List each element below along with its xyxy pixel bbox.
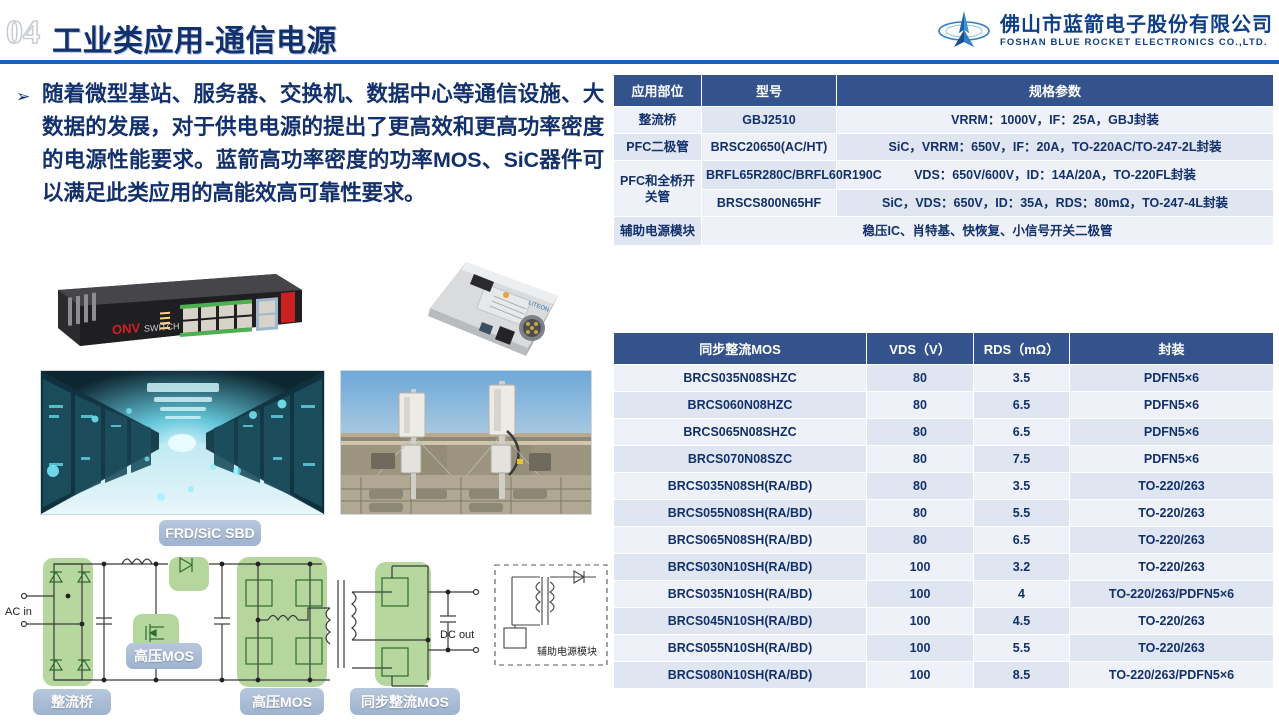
cell-model: BRCS030N10SH(RA/BD) <box>614 554 867 581</box>
table-row: 辅助电源模块 稳压IC、肖特基、快恢复、小信号开关二极管 <box>614 217 1274 246</box>
sync-rectifier-mos-table: 同步整流MOS VDS（V） RDS（mΩ） 封装 BRCS035N08SHZC… <box>613 332 1274 689</box>
application-spec-table: 应用部位 型号 规格参数 整流桥 GBJ2510 VRRM：1000V，IF：2… <box>613 74 1274 246</box>
cell-model: BRCS035N08SHZC <box>614 365 867 392</box>
cell-rds: 3.5 <box>974 365 1070 392</box>
table-row: 整流桥 GBJ2510 VRRM：1000V，IF：25A，GBJ封装 <box>614 107 1274 134</box>
tag-sync-rectifier-mos: 同步整流MOS <box>350 688 460 715</box>
cell-package: TO-220/263 <box>1070 473 1274 500</box>
th-vds: VDS（V） <box>867 333 974 365</box>
network-switch-photo: ONV SWITCH <box>40 260 310 358</box>
cell-model: BRCS035N10SH(RA/BD) <box>614 581 867 608</box>
power-supply-block-diagram: AC in DC out 辅助电源模块 FRD/SiC SBD 整流桥 高压MO… <box>0 520 610 720</box>
cell-package: TO-220/263 <box>1070 527 1274 554</box>
cell-model: BRCS065N08SH(RA/BD) <box>614 527 867 554</box>
tag-frd-sic-sbd: FRD/SiC SBD <box>159 520 261 546</box>
table-row: BRCS070N08SZC807.5PDFN5×6 <box>614 446 1274 473</box>
logo-company-cn: 佛山市蓝箭电子股份有限公司 <box>1000 15 1273 35</box>
logo-company-en: FOSHAN BLUE ROCKET ELECTRONICS CO.,LTD. <box>1000 38 1273 48</box>
cell-vds: 80 <box>867 473 974 500</box>
label-aux-power-module: 辅助电源模块 <box>537 645 597 658</box>
cell-model: BRCS055N08SH(RA/BD) <box>614 500 867 527</box>
cell-rds: 7.5 <box>974 446 1070 473</box>
cell-spec: VDS：650V/600V，ID：14A/20A，TO-220FL封装 <box>837 161 1274 190</box>
cell-spec: SiC，VRRM：650V，IF：20A，TO-220AC/TO-247-2L封… <box>837 134 1274 161</box>
th-rds: RDS（mΩ） <box>974 333 1070 365</box>
cell-package: TO-220/263 <box>1070 500 1274 527</box>
cell-model: BRCS045N10SH(RA/BD) <box>614 608 867 635</box>
cell-package: TO-220/263 <box>1070 608 1274 635</box>
cell-package: PDFN5×6 <box>1070 392 1274 419</box>
table-row: BRCS060N08HZC806.5PDFN5×6 <box>614 392 1274 419</box>
cell-package: TO-220/263 <box>1070 635 1274 662</box>
cell-package: PDFN5×6 <box>1070 446 1274 473</box>
table-row: BRCS045N10SH(RA/BD)1004.5TO-220/263 <box>614 608 1274 635</box>
cell-rds: 4 <box>974 581 1070 608</box>
th-sync-mos: 同步整流MOS <box>614 333 867 365</box>
cell-model: BRCS080N10SH(RA/BD) <box>614 662 867 689</box>
base-station-photo <box>340 370 592 515</box>
tag-hv-mos-2: 高压MOS <box>240 688 324 715</box>
cell-package: TO-220/263 <box>1070 554 1274 581</box>
logo-text-block: 佛山市蓝箭电子股份有限公司 FOSHAN BLUE ROCKET ELECTRO… <box>1000 15 1273 48</box>
table-row: BRCS055N08SH(RA/BD)805.5TO-220/263 <box>614 500 1274 527</box>
cell-model: BRCS055N10SH(RA/BD) <box>614 635 867 662</box>
bullet-paragraph-text: 随着微型基站、服务器、交换机、数据中心等通信设施、大数据的发展，对于供电电源的提… <box>42 78 604 210</box>
cell-model: BRSCS800N65HF <box>702 190 837 217</box>
table-row: BRCS080N10SH(RA/BD)1008.5TO-220/263/PDFN… <box>614 662 1274 689</box>
data-center-photo <box>40 370 325 515</box>
table-header-row: 应用部位 型号 规格参数 <box>614 75 1274 107</box>
cell-part: PFC二极管 <box>614 134 702 161</box>
table-row: BRCS065N08SHZC806.5PDFN5×6 <box>614 419 1274 446</box>
bullet-paragraph-block: ➢ 随着微型基站、服务器、交换机、数据中心等通信设施、大数据的发展，对于供电电源… <box>16 78 604 210</box>
table-row: BRCS035N08SH(RA/BD)803.5TO-220/263 <box>614 473 1274 500</box>
cell-model: GBJ2510 <box>702 107 837 134</box>
cell-spec: VRRM：1000V，IF：25A，GBJ封装 <box>837 107 1274 134</box>
cell-package: TO-220/263/PDFN5×6 <box>1070 662 1274 689</box>
cell-vds: 100 <box>867 581 974 608</box>
cell-vds: 80 <box>867 446 974 473</box>
cell-rds: 3.2 <box>974 554 1070 581</box>
tag-hv-mos-1: 高压MOS <box>126 643 202 669</box>
bullet-arrow-icon: ➢ <box>16 87 30 107</box>
th-spec: 规格参数 <box>837 75 1274 107</box>
table-row: BRCS035N10SH(RA/BD)1004TO-220/263/PDFN5×… <box>614 581 1274 608</box>
cell-vds: 80 <box>867 419 974 446</box>
slide-header: 04 工业类应用-通信电源 佛山市蓝箭电子股份有限公司 FOSHAN BLUE … <box>0 0 1279 62</box>
cell-rds: 6.5 <box>974 527 1070 554</box>
th-package: 封装 <box>1070 333 1274 365</box>
cell-rds: 6.5 <box>974 419 1070 446</box>
cell-spec: 稳压IC、肖特基、快恢复、小信号开关二极管 <box>702 217 1274 246</box>
cell-rds: 3.5 <box>974 473 1070 500</box>
cell-model: BRSC20650(AC/HT) <box>702 134 837 161</box>
cell-model: BRCS035N08SH(RA/BD) <box>614 473 867 500</box>
cell-model: BRCS070N08SZC <box>614 446 867 473</box>
table-row: BRCS055N10SH(RA/BD)1005.5TO-220/263 <box>614 635 1274 662</box>
cell-part: 辅助电源模块 <box>614 217 702 246</box>
label-dc-out: DC out <box>440 629 474 641</box>
cell-model: BRFL65R280C/BRFL60R190C <box>702 161 837 190</box>
cell-rds: 5.5 <box>974 635 1070 662</box>
cell-vds: 80 <box>867 365 974 392</box>
page-title: 工业类应用-通信电源 <box>52 16 337 60</box>
label-ac-in: AC in <box>5 606 32 618</box>
cell-vds: 100 <box>867 662 974 689</box>
table-header-row: 同步整流MOS VDS（V） RDS（mΩ） 封装 <box>614 333 1274 365</box>
slide-number: 04 <box>6 14 40 52</box>
cell-package: PDFN5×6 <box>1070 419 1274 446</box>
cell-vds: 80 <box>867 500 974 527</box>
table-row: BRCS030N10SH(RA/BD)1003.2TO-220/263 <box>614 554 1274 581</box>
rocket-logo-icon <box>936 9 992 53</box>
table-row: BRSCS800N65HF SiC，VDS：650V，ID：35A，RDS：80… <box>614 190 1274 217</box>
table-row: BRCS035N08SHZC803.5PDFN5×6 <box>614 365 1274 392</box>
tag-rectifier-bridge: 整流桥 <box>33 689 111 715</box>
table-row: BRCS065N08SH(RA/BD)806.5TO-220/263 <box>614 527 1274 554</box>
table-row: PFC二极管 BRSC20650(AC/HT) SiC，VRRM：650V，IF… <box>614 134 1274 161</box>
cell-rds: 5.5 <box>974 500 1070 527</box>
cell-rds: 4.5 <box>974 608 1070 635</box>
cell-package: PDFN5×6 <box>1070 365 1274 392</box>
cell-vds: 100 <box>867 554 974 581</box>
cell-spec: SiC，VDS：650V，ID：35A，RDS：80mΩ，TO-247-4L封装 <box>837 190 1274 217</box>
server-power-supply-photo: LITEON <box>408 252 593 362</box>
cell-part: PFC和全桥开关管 <box>614 161 702 217</box>
cell-model: BRCS065N08SHZC <box>614 419 867 446</box>
company-logo: 佛山市蓝箭电子股份有限公司 FOSHAN BLUE ROCKET ELECTRO… <box>936 8 1273 54</box>
th-application-part: 应用部位 <box>614 75 702 107</box>
cell-vds: 100 <box>867 608 974 635</box>
cell-rds: 6.5 <box>974 392 1070 419</box>
cell-vds: 100 <box>867 635 974 662</box>
table-row: PFC和全桥开关管 BRFL65R280C/BRFL60R190C VDS：65… <box>614 161 1274 190</box>
cell-vds: 80 <box>867 392 974 419</box>
cell-rds: 8.5 <box>974 662 1070 689</box>
cell-package: TO-220/263/PDFN5×6 <box>1070 581 1274 608</box>
header-divider <box>0 60 1279 64</box>
cell-part: 整流桥 <box>614 107 702 134</box>
th-model: 型号 <box>702 75 837 107</box>
cell-vds: 80 <box>867 527 974 554</box>
cell-model: BRCS060N08HZC <box>614 392 867 419</box>
svg-text:ONV: ONV <box>112 320 140 337</box>
